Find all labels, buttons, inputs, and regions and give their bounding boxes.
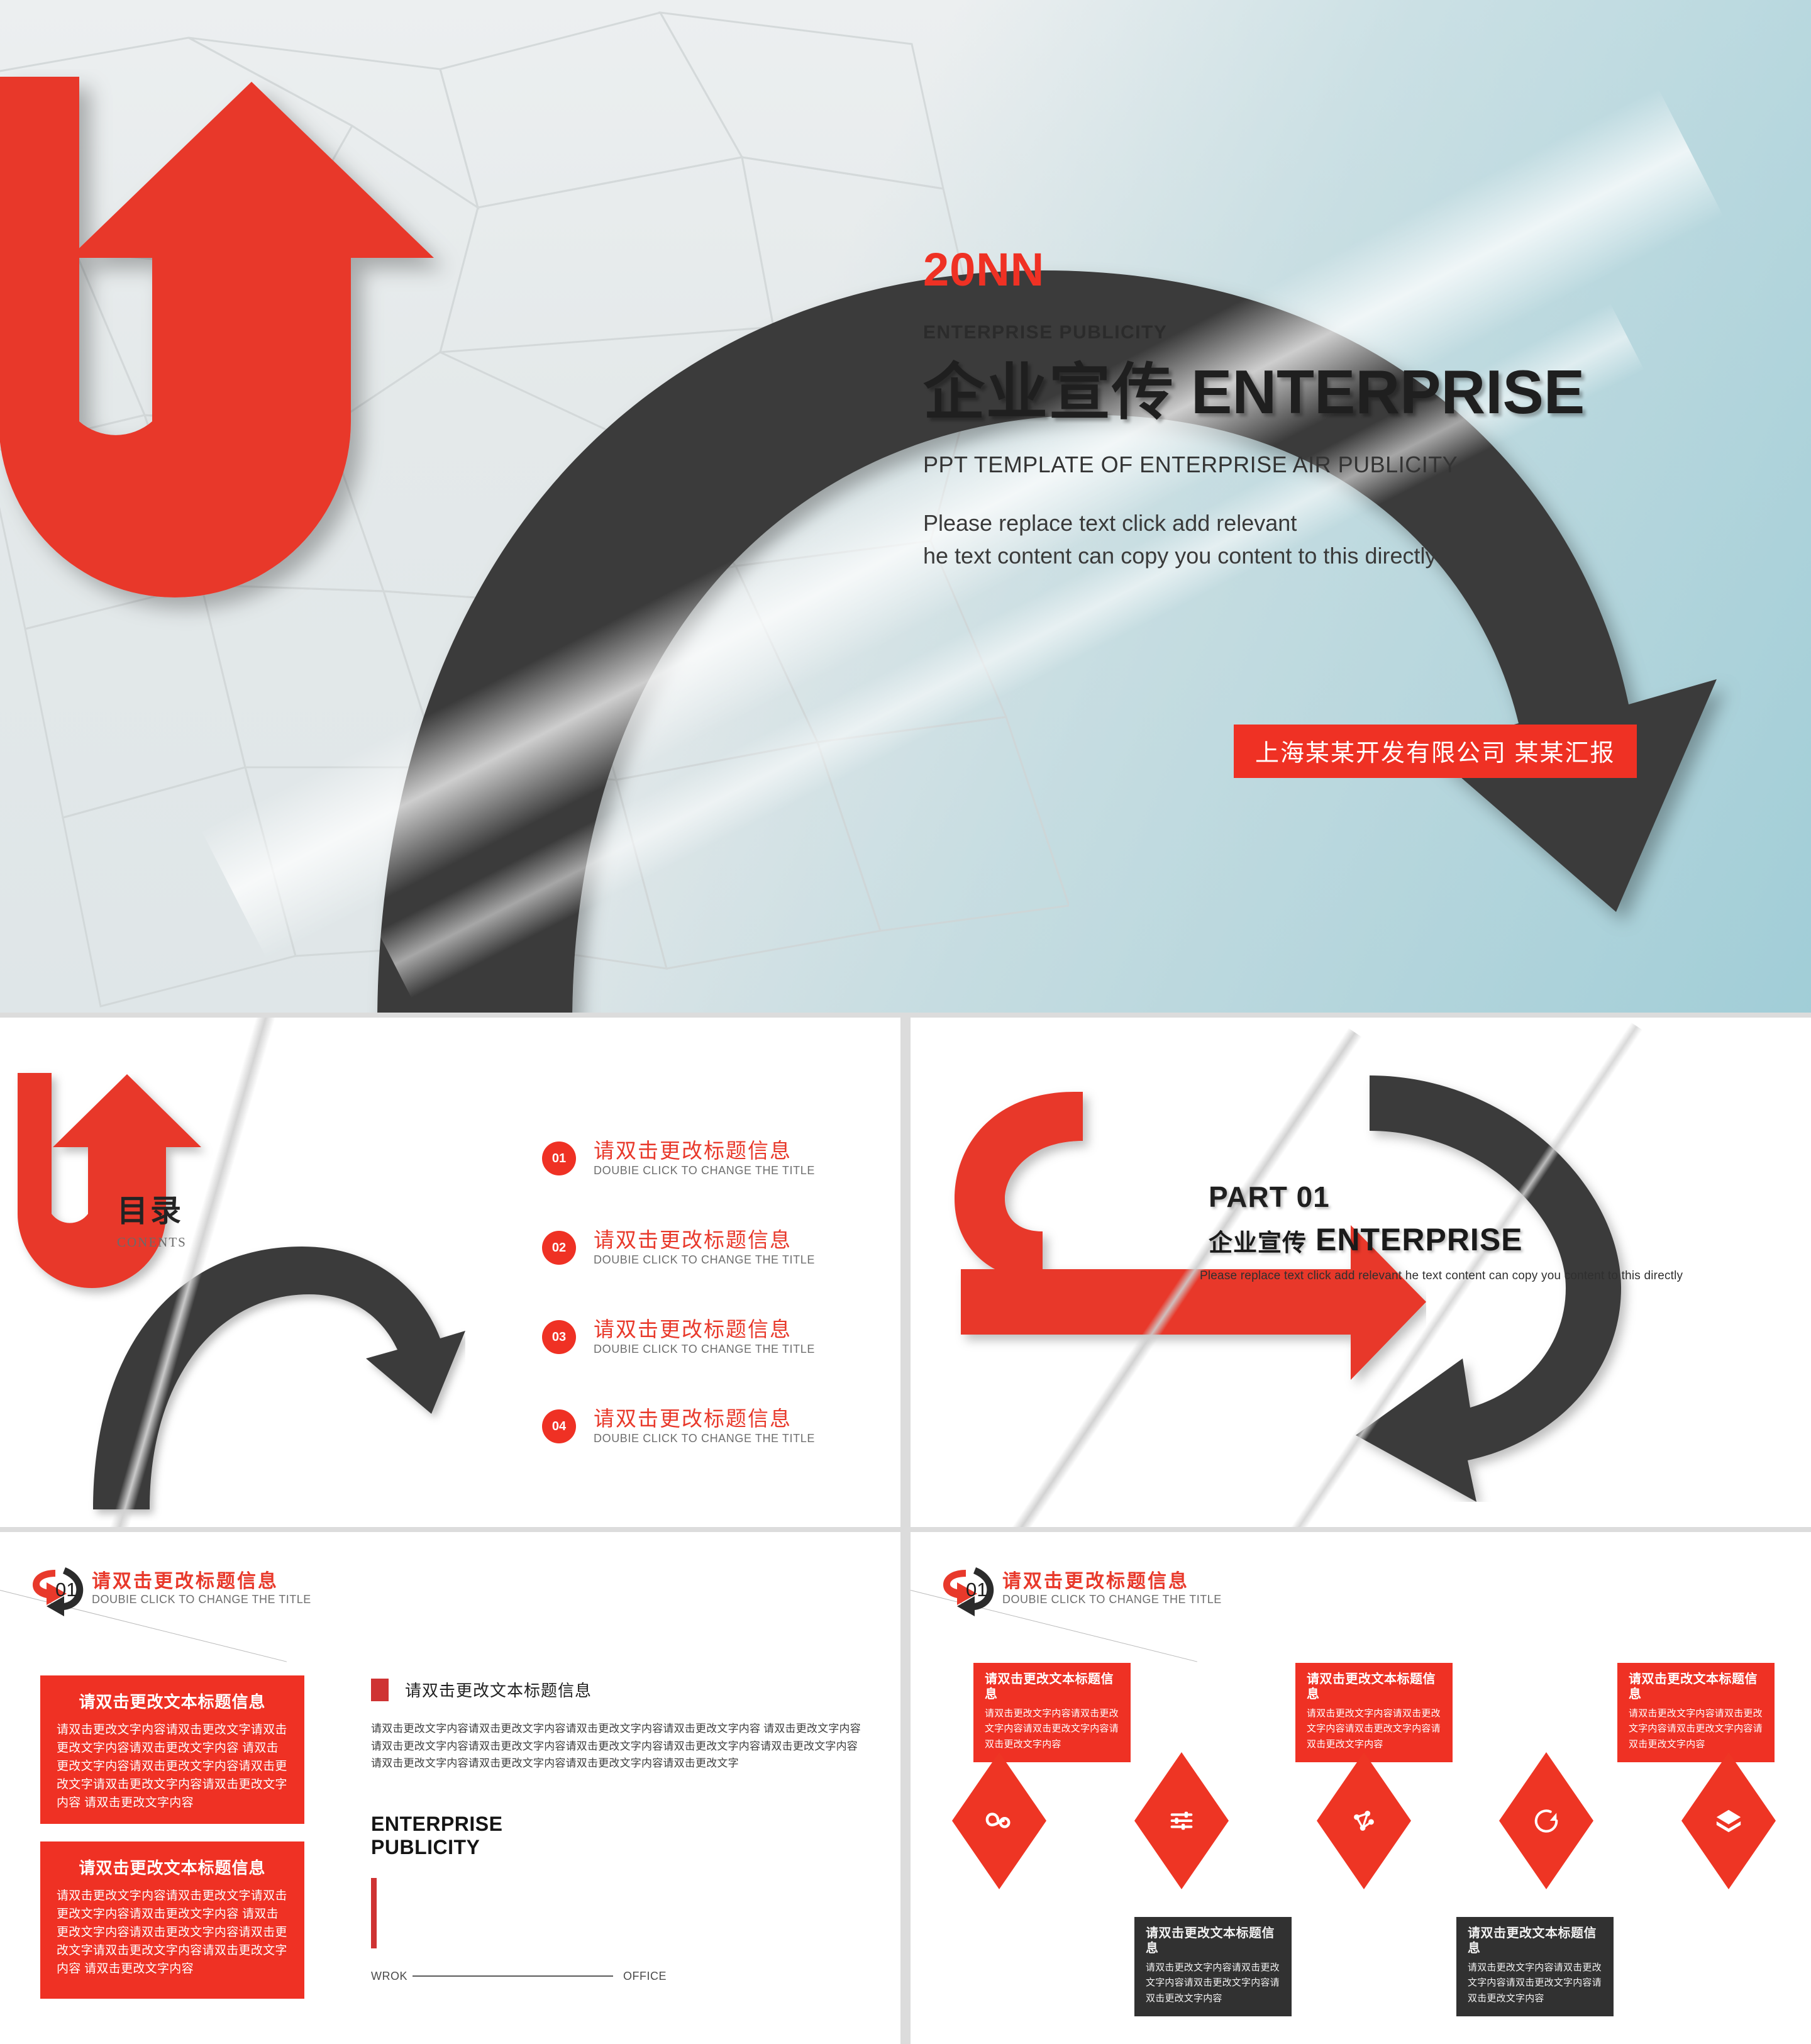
red-vertical-bar: [371, 1878, 377, 1948]
infinity-icon: [985, 1806, 1014, 1835]
callout-title: 请双击更改文本标题信息: [1307, 1672, 1441, 1702]
cover-slide: 20NN ENTERPRISE PUBLICITY 企业宣传ENTERPRISE…: [0, 0, 1811, 1013]
content-big-line-2: PUBLICITY: [371, 1836, 868, 1859]
content-slide-left: 01 请双击更改标题信息 DOUBIE CLICK TO CHANGE THE …: [0, 1532, 900, 2044]
toc-badge: 03: [542, 1320, 576, 1354]
toc-item-title-en: DOUBIE CLICK TO CHANGE THE TITLE: [594, 1164, 815, 1177]
part-title-en: ENTERPRISE: [1315, 1221, 1523, 1258]
part-kicker: PART 01: [1209, 1180, 1712, 1214]
dark-callout-box: 请双击更改文本标题信息 请双击更改文字内容请双击更改文字内容请双击更改文字内容请…: [1456, 1917, 1614, 2016]
callout-body: 请双击更改文字内容请双击更改文字内容请双击更改文字内容请双击更改文字内容: [1468, 1960, 1602, 2006]
footer-label-left: WROK: [371, 1970, 407, 1984]
section-number: 01: [966, 1579, 987, 1601]
diamond-row: [952, 1752, 1776, 1897]
toc-label: 目录 CONENTS: [117, 1186, 187, 1250]
red-box-title: 请双击更改文本标题信息: [57, 1855, 288, 1879]
slide-gap-2: [0, 1527, 1811, 1532]
cover-subtitle: PPT TEMPLATE OF ENTERPRISE AIR PUBLICITY: [923, 452, 1778, 478]
red-box-body: 请双击更改文字内容请双击更改文字请双击更改文字内容请双击更改文字内容 请双击更改…: [57, 1887, 288, 1978]
toc-item-title-cn: 请双击更改标题信息: [594, 1140, 815, 1163]
red-callout-box: 请双击更改文本标题信息 请双击更改文字内容请双击更改文字内容请双击更改文字内容请…: [1295, 1663, 1453, 1762]
toc-item-title-en: DOUBIE CLICK TO CHANGE THE TITLE: [594, 1343, 815, 1356]
callout-title: 请双击更改文本标题信息: [1146, 1926, 1280, 1956]
toc-list: 01 请双击更改标题信息 DOUBIE CLICK TO CHANGE THE …: [542, 1136, 838, 1493]
section-number: 01: [55, 1579, 77, 1601]
content-big-text: ENTERPRISE PUBLICITY: [371, 1813, 868, 1859]
red-box-title: 请双击更改文本标题信息: [57, 1689, 288, 1713]
slide-gap-1: [0, 1013, 1811, 1018]
list-item[interactable]: 01 请双击更改标题信息 DOUBIE CLICK TO CHANGE THE …: [542, 1136, 838, 1181]
section-title-en: DOUBIE CLICK TO CHANGE THE TITLE: [1002, 1593, 1222, 1606]
toc-badge: 01: [542, 1141, 576, 1175]
callout-body: 请双击更改文字内容请双击更改文字内容请双击更改文字内容请双击更改文字内容: [1146, 1960, 1280, 2006]
toc-item-title-cn: 请双击更改标题信息: [594, 1318, 815, 1341]
slide-gap-vertical-1: [900, 1018, 911, 1527]
footer-rule: [413, 1975, 613, 1977]
part-text-block: PART 01 企业宣传 ENTERPRISE Please replace t…: [1209, 1180, 1712, 1283]
section-title-cn: 请双击更改标题信息: [1002, 1571, 1222, 1592]
network-nodes-icon: [1349, 1806, 1378, 1835]
section-header: 01 请双击更改标题信息 DOUBIE CLICK TO CHANGE THE …: [28, 1560, 311, 1618]
callout-title: 请双击更改文本标题信息: [1629, 1672, 1763, 1702]
part-divider-slide: PART 01 企业宣传 ENTERPRISE Please replace t…: [911, 1018, 1811, 1527]
toc-item-title-en: DOUBIE CLICK TO CHANGE THE TITLE: [594, 1432, 815, 1445]
section-title-cn: 请双击更改标题信息: [92, 1571, 311, 1592]
section-header: 01 请双击更改标题信息 DOUBIE CLICK TO CHANGE THE …: [938, 1560, 1222, 1618]
dark-callout-box: 请双击更改文本标题信息 请双击更改文字内容请双击更改文字内容请双击更改文字内容请…: [1134, 1917, 1292, 2016]
layers-stack-icon: [1714, 1806, 1743, 1835]
toc-label-cn: 目录: [117, 1186, 187, 1231]
section-title-en: DOUBIE CLICK TO CHANGE THE TITLE: [92, 1593, 311, 1606]
list-item[interactable]: 03 请双击更改标题信息 DOUBIE CLICK TO CHANGE THE …: [542, 1314, 838, 1360]
callout-title: 请双击更改文本标题信息: [1468, 1926, 1602, 1956]
diamond-tile[interactable]: [1317, 1752, 1411, 1889]
callout-body: 请双击更改文字内容请双击更改文字内容请双击更改文字内容请双击更改文字内容: [1629, 1706, 1763, 1752]
red-content-box: 请双击更改文本标题信息 请双击更改文字内容请双击更改文字请双击更改文字内容请双击…: [40, 1675, 304, 1824]
page-title: 企业宣传ENTERPRISE: [923, 358, 1778, 426]
toc-label-en: CONENTS: [117, 1235, 187, 1250]
callout-title: 请双击更改文本标题信息: [985, 1672, 1119, 1702]
toc-badge: 04: [542, 1409, 576, 1443]
diamond-tile[interactable]: [1134, 1752, 1229, 1889]
cover-description: Please replace text click add relevant h…: [923, 507, 1778, 572]
slide-gap-vertical-2: [900, 1532, 911, 2044]
content-right-column: 请双击更改文本标题信息 请双击更改文字内容请双击更改文字内容请双击更改文字内容请…: [371, 1678, 868, 1983]
list-item[interactable]: 04 请双击更改标题信息 DOUBIE CLICK TO CHANGE THE …: [542, 1404, 838, 1449]
diamond-tile[interactable]: [1681, 1752, 1776, 1889]
cover-text-block: 20NN ENTERPRISE PUBLICITY 企业宣传ENTERPRISE…: [923, 247, 1778, 572]
callout-body: 请双击更改文字内容请双击更改文字内容请双击更改文字内容请双击更改文字内容: [985, 1706, 1119, 1752]
toc-item-title-en: DOUBIE CLICK TO CHANGE THE TITLE: [594, 1253, 815, 1267]
red-box-body: 请双击更改文字内容请双击更改文字请双击更改文字内容请双击更改文字内容 请双击更改…: [57, 1721, 288, 1812]
list-item[interactable]: 02 请双击更改标题信息 DOUBIE CLICK TO CHANGE THE …: [542, 1225, 838, 1270]
content-footer: WROK OFFICE: [371, 1970, 667, 1984]
toc-slide: 目录 CONENTS 01 请双击更改标题信息 DOUBIE CLICK TO …: [0, 1018, 900, 1527]
toc-item-title-cn: 请双击更改标题信息: [594, 1229, 815, 1252]
cover-title-cn: 企业宣传: [923, 357, 1175, 426]
content-heading: 请双击更改文本标题信息: [405, 1678, 592, 1701]
toc-badge: 02: [542, 1231, 576, 1265]
company-banner: 上海某某开发有限公司 某某汇报: [1234, 725, 1637, 778]
red-callout-box: 请双击更改文本标题信息 请双击更改文字内容请双击更改文字内容请双击更改文字内容请…: [1617, 1663, 1775, 1762]
cover-year: 20NN: [923, 247, 1778, 293]
refresh-circle-icon: [1532, 1806, 1561, 1835]
red-swatch: [371, 1679, 389, 1701]
content-slide-right: 01 请双击更改标题信息 DOUBIE CLICK TO CHANGE THE …: [911, 1532, 1811, 2044]
diamond-tile[interactable]: [952, 1752, 1046, 1889]
red-content-box: 请双击更改文本标题信息 请双击更改文字内容请双击更改文字请双击更改文字内容请双击…: [40, 1841, 304, 1999]
part-title-cn: 企业宣传: [1209, 1223, 1307, 1258]
content-paragraph: 请双击更改文字内容请双击更改文字内容请双击更改文字内容请双击更改文字内容 请双击…: [371, 1720, 868, 1772]
cover-eyebrow: ENTERPRISE PUBLICITY: [923, 322, 1778, 343]
footer-label-right: OFFICE: [623, 1970, 667, 1983]
cover-title-en: ENTERPRISE: [1191, 357, 1585, 426]
cover-description-line-2: he text content can copy you content to …: [923, 540, 1778, 572]
part-description: Please replace text click add relevant h…: [1200, 1269, 1712, 1283]
callout-body: 请双击更改文字内容请双击更改文字内容请双击更改文字内容请双击更改文字内容: [1307, 1706, 1441, 1752]
toc-item-title-cn: 请双击更改标题信息: [594, 1408, 815, 1431]
red-callout-box: 请双击更改文本标题信息 请双击更改文字内容请双击更改文字内容请双击更改文字内容请…: [973, 1663, 1131, 1762]
diamond-tile[interactable]: [1499, 1752, 1593, 1889]
sliders-icon: [1167, 1806, 1196, 1835]
cover-description-line-1: Please replace text click add relevant: [923, 507, 1778, 540]
content-big-line-1: ENTERPRISE: [371, 1813, 868, 1836]
